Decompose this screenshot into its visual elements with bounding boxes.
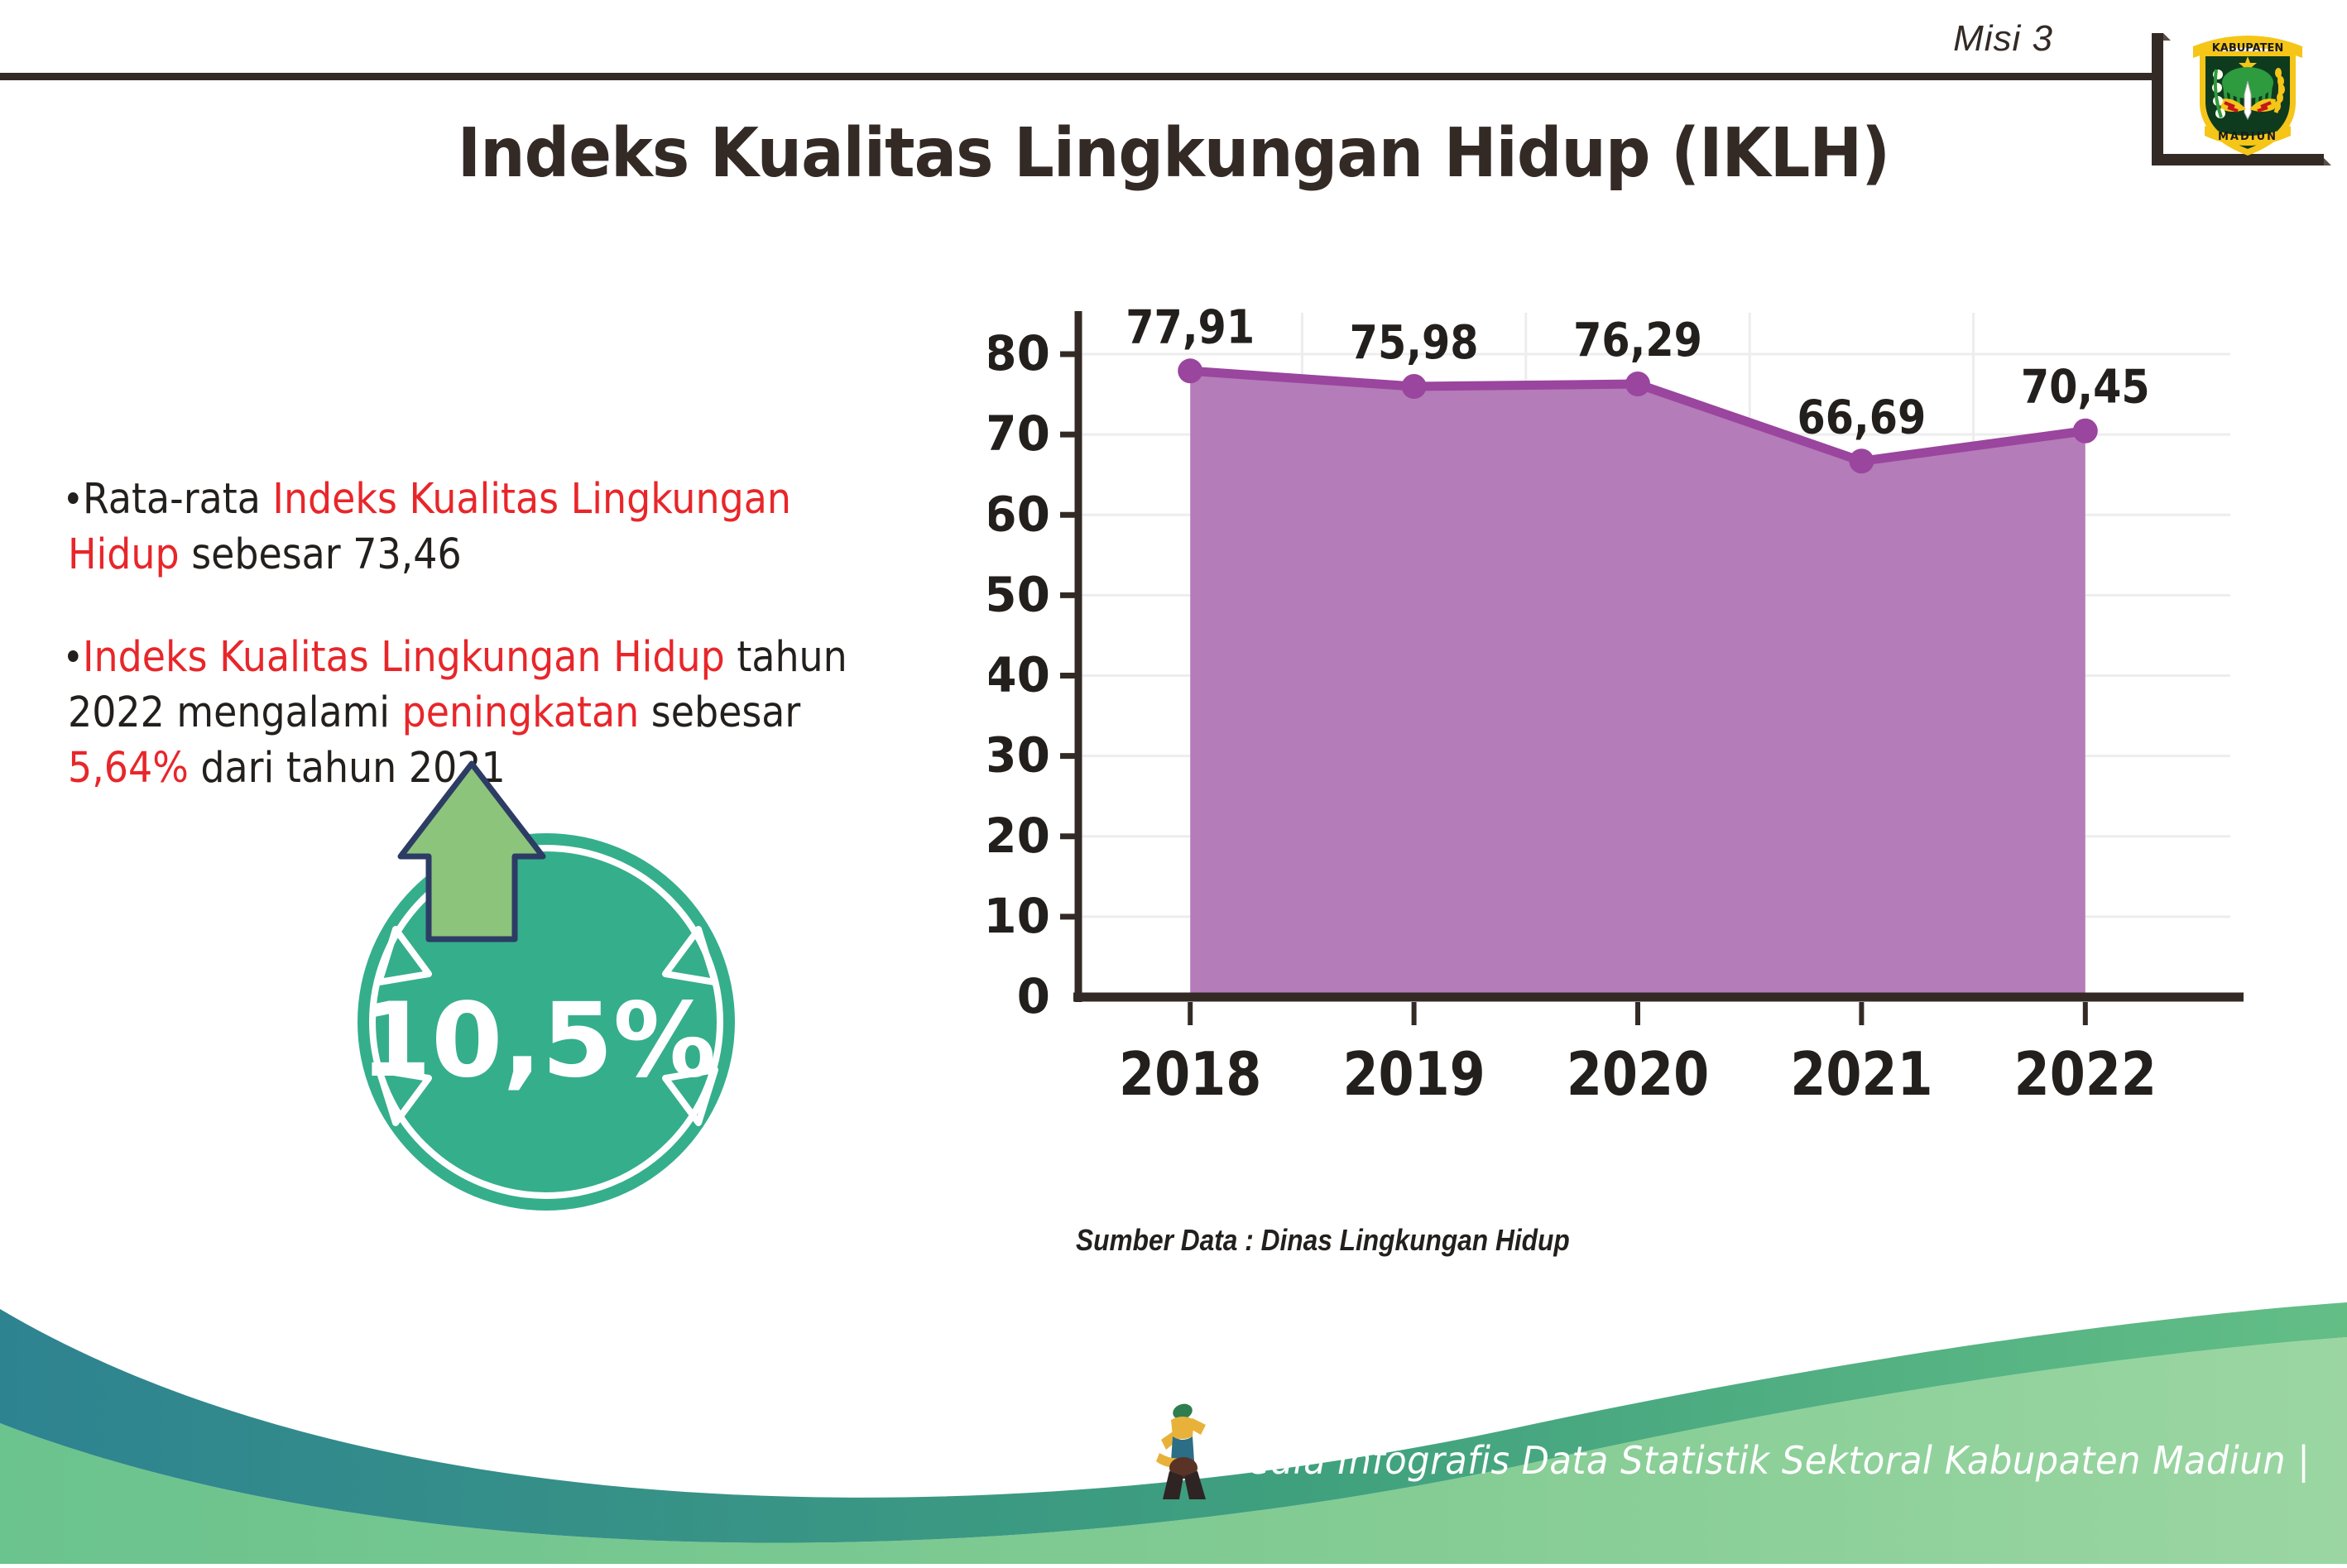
statistics-mascot-icon — [1146, 1400, 1221, 1499]
bullet-2-segment-1: Indeks Kualitas Lingkungan Hidup — [83, 633, 725, 682]
y-tick-label: 60 — [989, 486, 1050, 542]
data-label: 66,69 — [1797, 391, 1926, 444]
area-fill — [1190, 371, 2085, 997]
data-label: 70,45 — [2021, 361, 2150, 415]
bullet-2-segment-5: 5,64% — [68, 744, 189, 793]
y-tick-label: 0 — [1017, 968, 1050, 1024]
data-label: 77,91 — [1126, 300, 1255, 354]
page-title: Indeks Kualitas Lingkungan Hidup (IKLH) — [82, 114, 2264, 193]
data-point — [1625, 372, 1650, 396]
bullet-dot-icon — [68, 650, 79, 662]
y-tick-label: 30 — [989, 727, 1050, 784]
misi-label: Misi 3 — [1953, 18, 2053, 60]
growth-badge: 10,5% — [331, 749, 761, 1212]
x-tick-label: 2020 — [1567, 1040, 1709, 1110]
svg-text:KABUPATEN: KABUPATEN — [2212, 42, 2284, 55]
footer-caption: Media Infografis Data Statistik Sektoral… — [1217, 1438, 2310, 1483]
y-tick-label: 80 — [989, 325, 1050, 381]
x-tick-label: 2019 — [1342, 1040, 1485, 1110]
iklh-area-chart: 77,9175,9876,2966,6970,45010203040506070… — [989, 290, 2247, 1175]
data-point — [1849, 448, 1874, 473]
slide-canvas: Misi 3 KABUPATEN — [0, 0, 2347, 1564]
y-tick-label: 50 — [989, 566, 1050, 622]
y-tick-label: 10 — [989, 888, 1050, 944]
bullet-1-segment-1: Rata-rata — [83, 475, 272, 524]
bullet-1-segment-3: sebesar 73,46 — [180, 530, 462, 579]
source-note: Sumber Data : Dinas Lingkungan Hidup — [1076, 1223, 1570, 1258]
bullet-dot-icon — [68, 492, 79, 504]
list-item: Rata-rata Indeks Kualitas Lingkungan Hid… — [68, 472, 872, 583]
y-tick-label: 70 — [989, 405, 1050, 462]
badge-value: 10,5% — [360, 981, 716, 1100]
data-label: 76,29 — [1573, 314, 1702, 367]
x-tick-label: 2021 — [1790, 1040, 1932, 1110]
data-point — [1402, 374, 1427, 399]
data-point — [2073, 419, 2098, 444]
data-label: 75,98 — [1350, 316, 1479, 370]
bullet-2-segment-4: sebesar — [639, 688, 800, 737]
header-divider — [0, 73, 2157, 80]
data-point — [1178, 358, 1202, 383]
bullet-2-segment-3: peningkatan — [402, 688, 640, 737]
x-tick-label: 2022 — [2014, 1040, 2157, 1110]
x-tick-label: 2018 — [1119, 1040, 1261, 1110]
y-tick-label: 40 — [989, 647, 1050, 703]
y-tick-label: 20 — [989, 808, 1050, 864]
chart-canvas: 77,9175,9876,2966,6970,45010203040506070… — [989, 290, 2247, 1175]
